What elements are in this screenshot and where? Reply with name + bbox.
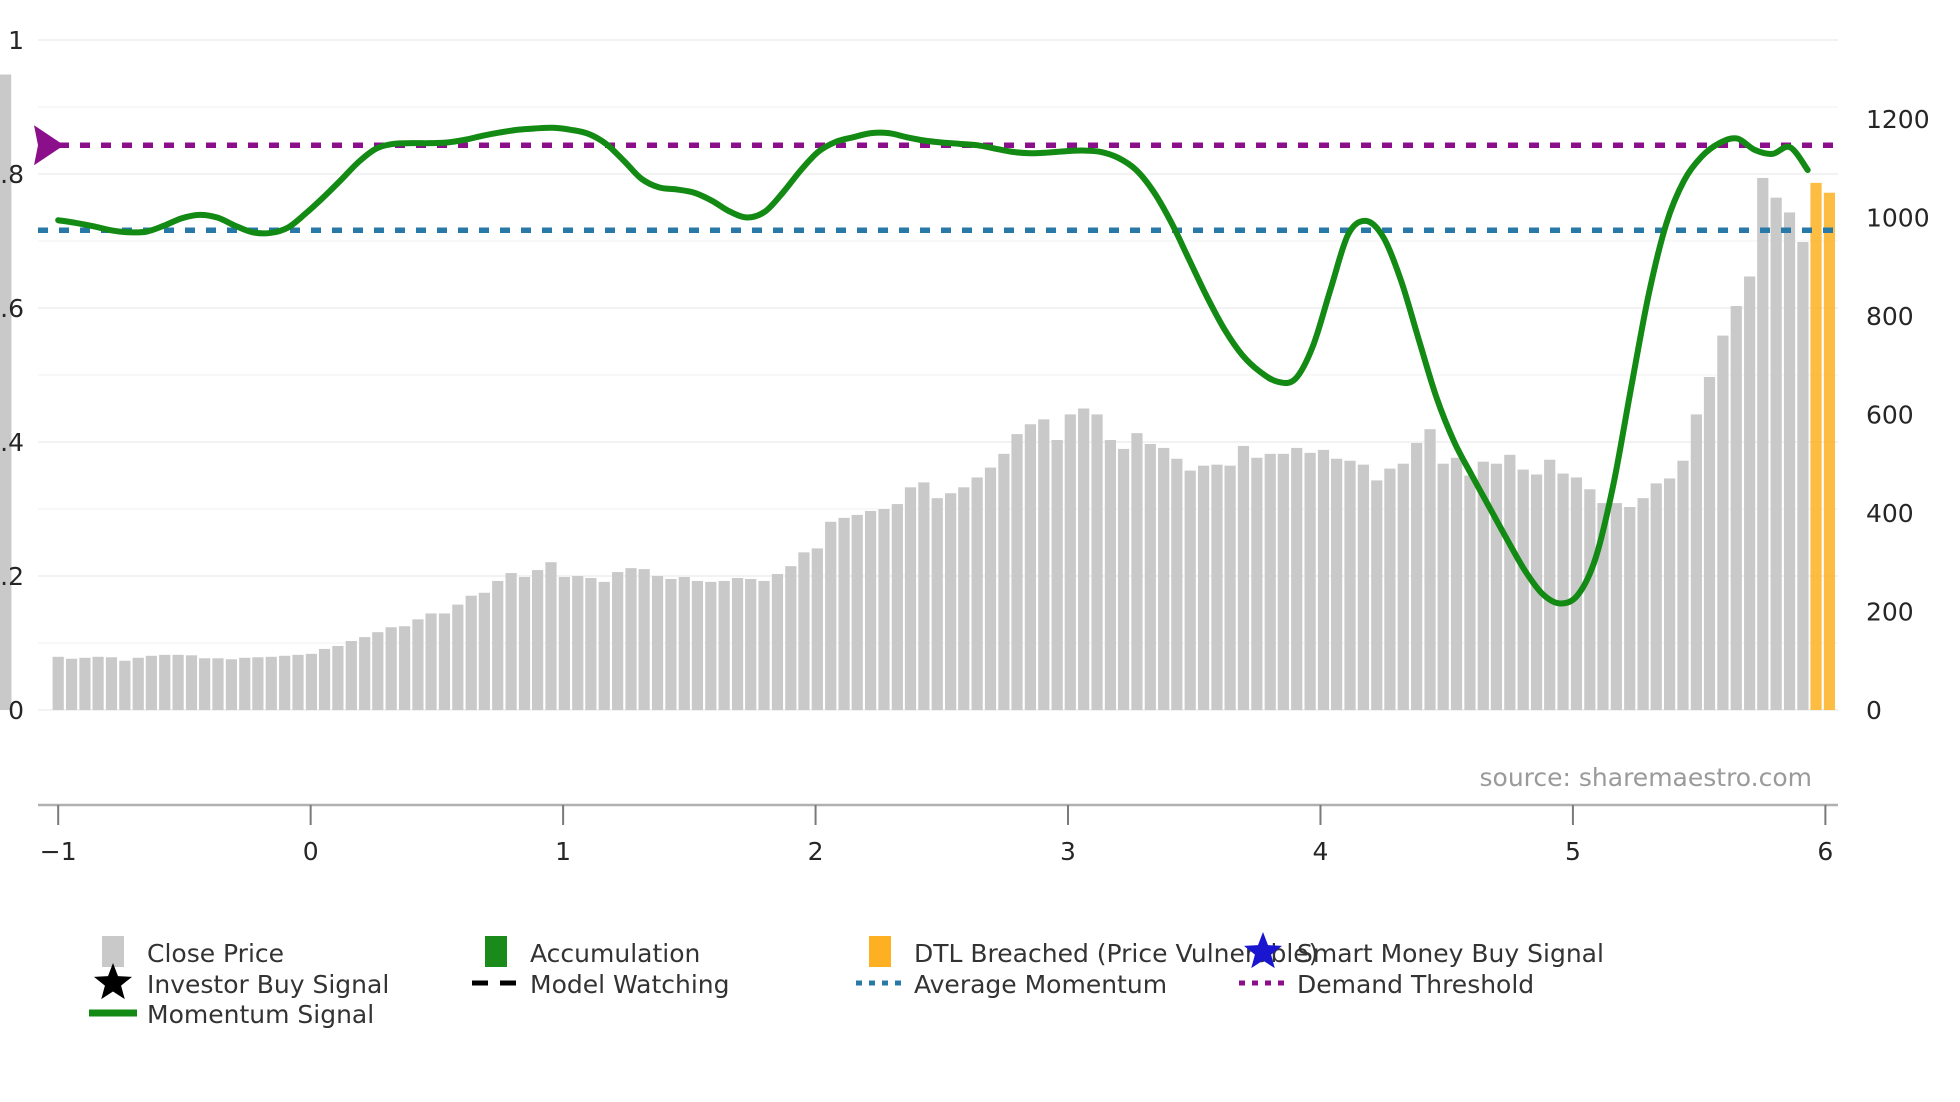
bottom-axis-tick-label: 1	[555, 837, 571, 866]
bar-close-price	[1464, 476, 1475, 711]
bar-close-price	[1518, 470, 1529, 710]
bar-close-price	[1185, 471, 1196, 710]
bar-close-price	[1557, 474, 1568, 710]
bar-close-price	[1664, 478, 1675, 710]
bar-dtl-breached	[1824, 193, 1835, 710]
bar-close-price	[958, 487, 969, 710]
bar-close-price	[772, 574, 783, 710]
bar-close-price	[292, 655, 303, 710]
bar-close-price	[532, 570, 543, 710]
bar-close-price	[1384, 469, 1395, 710]
bar-close-price	[106, 657, 117, 710]
bar-close-price	[1091, 414, 1102, 710]
bar-close-price	[372, 632, 383, 710]
bar-close-price	[425, 613, 436, 710]
bar-close-price	[652, 576, 663, 710]
bar-close-price	[1344, 461, 1355, 710]
chart-canvas: 00.20.40.60.81 020040060080010001200 −10…	[0, 0, 1960, 1102]
legend-label: Average Momentum	[914, 970, 1167, 999]
bar-close-price	[745, 579, 756, 710]
left-axis-tick-label: 0.6	[0, 294, 24, 323]
left-axis-tick-label: 0.2	[0, 562, 24, 591]
bar-close-price	[1691, 414, 1702, 710]
bar-close-price	[53, 657, 64, 710]
bar-close-price	[1771, 198, 1782, 710]
legend-label: Investor Buy Signal	[147, 970, 389, 999]
right-axis-tick-label: 200	[1866, 597, 1914, 626]
bar-close-price	[572, 576, 583, 710]
bar-close-price	[1238, 446, 1249, 710]
bar-close-price	[812, 548, 823, 710]
bar-close-price	[1638, 498, 1649, 710]
bar-close-price	[1251, 458, 1262, 710]
bar-close-price	[1065, 414, 1076, 710]
bar-close-price	[306, 654, 317, 710]
legend-label: Demand Threshold	[1297, 970, 1534, 999]
bar-dtl-breached	[1810, 183, 1821, 710]
bar-close-price	[1198, 466, 1209, 710]
bar-close-price	[279, 656, 290, 710]
bar-close-price	[865, 511, 876, 710]
bar-close-price	[399, 626, 410, 710]
bar-close-price	[838, 518, 849, 710]
source-note: source: sharemaestro.com	[1480, 763, 1813, 792]
legend-label: Accumulation	[530, 939, 700, 968]
bar-close-price	[1131, 433, 1142, 710]
left-axis-tick-label: 0	[8, 696, 24, 725]
right-axis-tick-label: 0	[1866, 696, 1882, 725]
bar-close-price	[466, 596, 477, 710]
bar-close-price	[332, 646, 343, 710]
bar-close-price	[159, 655, 170, 710]
bar-close-price	[1651, 483, 1662, 710]
bar-close-price	[119, 661, 130, 710]
bar-close-price	[878, 509, 889, 710]
bar-close-price	[1158, 448, 1169, 710]
left-axis-tick-label: 0.8	[0, 160, 24, 189]
bar-close-price	[173, 655, 184, 710]
bar-close-price	[1358, 465, 1369, 710]
bar-close-price	[679, 577, 690, 710]
right-axis-tick-label: 400	[1866, 499, 1914, 528]
bar-close-price	[825, 522, 836, 710]
bar-close-price	[506, 573, 517, 710]
right-axis-tick-label: 600	[1866, 400, 1914, 429]
legend-label: Momentum Signal	[147, 1000, 374, 1029]
bar-close-price	[346, 641, 357, 710]
bar-close-price	[998, 454, 1009, 710]
bar-close-price	[785, 566, 796, 710]
bar-close-price	[1744, 276, 1755, 710]
bar-close-price	[212, 658, 223, 710]
bar-close-price	[1145, 444, 1156, 710]
bar-close-price	[1611, 503, 1622, 710]
bar-close-price	[705, 582, 716, 710]
bar-close-price	[1318, 450, 1329, 710]
bar-close-price	[1118, 449, 1129, 710]
bar-close-price	[226, 659, 237, 710]
bar-close-price	[319, 649, 330, 710]
bar-close-price	[692, 581, 703, 710]
bar-close-price	[1624, 507, 1635, 710]
bottom-axis-tick-label: 6	[1817, 837, 1833, 866]
bar-close-price	[665, 579, 676, 710]
bar-close-price	[359, 637, 370, 710]
bar-close-price	[625, 568, 636, 710]
bar-close-price	[1504, 455, 1515, 710]
bar-close-price	[1438, 464, 1449, 710]
bar-close-price	[92, 657, 103, 710]
bar-close-price	[1544, 460, 1555, 710]
bar-close-price	[412, 619, 423, 710]
bar-close-price	[918, 482, 929, 710]
bar-close-price	[1398, 464, 1409, 710]
bar-close-price	[186, 655, 197, 710]
bottom-axis-tick-label: 5	[1565, 837, 1581, 866]
bar-close-price	[266, 657, 277, 710]
bottom-axis-tick-label: 3	[1060, 837, 1076, 866]
bar-close-price	[1291, 448, 1302, 710]
left-axis-tick-label: 1	[8, 26, 24, 55]
bar-close-price	[932, 498, 943, 710]
bar-close-price	[133, 658, 144, 710]
bar-close-price	[1105, 440, 1116, 710]
bar-close-price	[1757, 178, 1768, 710]
bar-close-price	[1584, 489, 1595, 710]
bar-close-price	[1731, 306, 1742, 710]
legend-item[interactable]: DTL Breached (Price Vulnerable)	[869, 936, 1318, 968]
bar-close-price	[599, 582, 610, 710]
bar-close-price	[1331, 459, 1342, 710]
bar-close-price	[1038, 419, 1049, 710]
bar-close-price	[1052, 440, 1063, 710]
bar-close-price	[852, 515, 863, 710]
bar-close-price	[1265, 454, 1276, 710]
bottom-axis-tick-label: −1	[40, 837, 77, 866]
bar-close-price	[1011, 434, 1022, 710]
bottom-axis-tick-label: 2	[808, 837, 824, 866]
bar-close-price	[1704, 377, 1715, 710]
bar-close-price	[1451, 458, 1462, 710]
bar-close-price	[1371, 480, 1382, 710]
bar-close-price	[1424, 429, 1435, 710]
bar-close-price	[1025, 424, 1036, 710]
close-price-swatch-icon	[102, 936, 124, 967]
bar-close-price	[985, 468, 996, 710]
bar-close-price	[1717, 336, 1728, 710]
right-axis-tick-label: 800	[1866, 302, 1914, 331]
bar-close-price	[239, 658, 250, 710]
bar-close-price	[252, 657, 263, 710]
bar-close-price	[798, 552, 809, 710]
bar-close-price	[66, 659, 77, 710]
chart-figure: 00.20.40.60.81 020040060080010001200 −10…	[0, 0, 1960, 1102]
bar-close-price	[639, 569, 650, 710]
bar-close-price	[1171, 459, 1182, 710]
bar-close-price	[79, 658, 90, 710]
bar-close-price	[479, 593, 490, 710]
left-axis-tick-label: 0.4	[0, 428, 24, 457]
bar-close-price	[545, 562, 556, 710]
bar-close-price	[1078, 409, 1089, 711]
bar-close-price	[199, 658, 210, 710]
bar-close-price	[1411, 443, 1422, 710]
bar-close-price	[1225, 466, 1236, 710]
bar-close-price	[905, 487, 916, 710]
bar-close-price	[945, 493, 956, 710]
legend-label: Model Watching	[530, 970, 730, 999]
legend-label: Close Price	[147, 939, 284, 968]
dtl-breached-swatch-icon	[869, 936, 891, 967]
accumulation-swatch-icon	[485, 936, 507, 967]
bar-close-price	[492, 581, 503, 710]
bar-close-price	[1278, 454, 1289, 710]
bar-close-price	[559, 577, 570, 710]
bar-close-price	[1491, 464, 1502, 710]
bar-close-price	[585, 578, 596, 710]
bar-close-price	[1797, 242, 1808, 710]
bar-close-price	[719, 581, 730, 710]
bar-close-price	[439, 613, 450, 710]
bar-close-price	[758, 581, 769, 710]
right-axis-tick-label: 1000	[1866, 203, 1930, 232]
bar-close-price	[519, 577, 530, 710]
bar-close-price	[1305, 453, 1316, 710]
bar-close-price	[732, 578, 743, 710]
right-axis-tick-label: 1200	[1866, 105, 1930, 134]
bar-close-price	[1677, 461, 1688, 710]
bar-close-price	[892, 504, 903, 710]
bar-close-price	[146, 656, 157, 710]
bar-close-price	[972, 477, 983, 710]
bottom-axis-tick-label: 0	[303, 837, 319, 866]
bar-close-price	[386, 627, 397, 710]
bottom-axis-tick-label: 4	[1313, 837, 1329, 866]
bar-close-price	[1784, 212, 1795, 710]
bar-close-price	[452, 605, 463, 710]
bar-close-price	[1211, 465, 1222, 710]
legend-label: Smart Money Buy Signal	[1297, 939, 1604, 968]
bar-close-price	[612, 572, 623, 710]
